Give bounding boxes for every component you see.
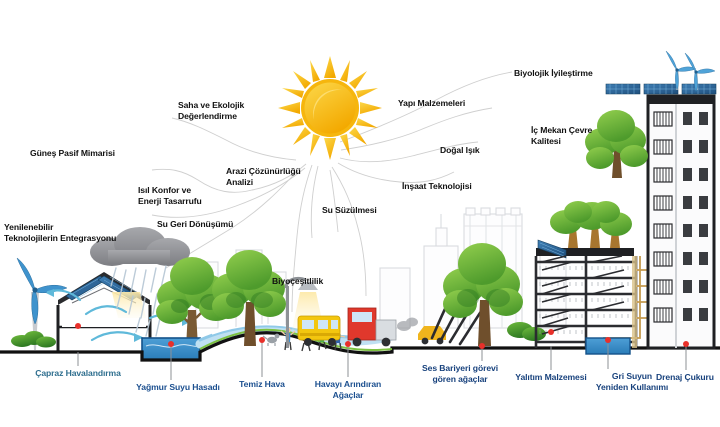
label-ses-bariyeri-gorevi-goren-agaclar: Ses Bariyeri görevi gören ağaçlar xyxy=(422,363,498,385)
label-isil-konfor-ve-enerji-tasarrufu: Isıl Konfor ve Enerji Tasarrufu xyxy=(138,185,202,207)
solar-panel-icon xyxy=(606,84,716,94)
label-yapi-malzemeleri: Yapı Malzemeleri xyxy=(398,98,465,109)
label-havayi-arindiran-agaclar: Havayı Arındıran Ağaçlar xyxy=(315,379,381,401)
label-capraz-havalandirma: Çapraz Havalandırma xyxy=(35,368,121,379)
label-insaat-teknolojisi: İnşaat Teknolojisi xyxy=(402,181,472,192)
tower-building xyxy=(606,51,716,348)
label-yalitim-malzemesi: Yalıtım Malzemesi xyxy=(515,372,586,383)
label-yenilenebilir-teknolojilerin-entegrasyonu: Yenilenebilir Teknolojilerin Entegrasyon… xyxy=(4,222,116,244)
label-biyolojik-iyilestirme: Biyolojik İyileştirme xyxy=(514,68,593,79)
label-saha-ve-ekolojik-degerlendirme: Saha ve Ekolojik Değerlendirme xyxy=(178,100,244,122)
label-drenaj-cukuru: Drenaj Çukuru xyxy=(656,372,714,383)
label-biyocesitlilik: Biyoçeşitlilik xyxy=(272,276,323,287)
shrub xyxy=(11,331,56,348)
label-yagmur-suyu-hasadi: Yağmur Suyu Hasadı xyxy=(136,382,220,393)
green-roof xyxy=(550,201,632,248)
label-dogal-isik: Doğal Işık xyxy=(440,145,480,156)
label-temiz-hava: Temiz Hava xyxy=(239,379,285,390)
infographic-canvas: Güneş Pasif Mimarisi Saha ve Ekolojik De… xyxy=(0,0,720,427)
label-arazi-cozunurlugu-analizi: Arazi Çözünürlüğü Analizi xyxy=(226,166,301,188)
label-su-suzulmesi: Su Süzülmesi xyxy=(322,205,377,216)
sun-icon xyxy=(278,56,382,160)
label-ic-mekan-cevre-kalitesi: İç Mekan Çevre Kalitesi xyxy=(531,125,592,147)
tree xyxy=(585,110,648,178)
label-gunes-pasif-mimarisi: Güneş Pasif Mimarisi xyxy=(30,148,115,159)
label-su-geri-donusumu: Su Geri Dönüşümü xyxy=(157,219,233,230)
